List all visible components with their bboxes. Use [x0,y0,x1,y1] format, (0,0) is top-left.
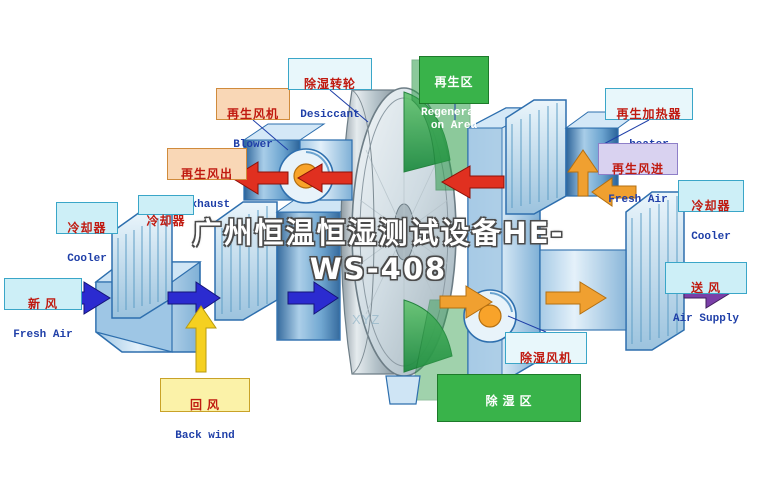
diagram-canvas: 广州恒温恒湿测试设备HE- WS-408 XYZ 再生风机 Blower 除湿转… [0,0,757,488]
label-regen-exhaust-cn: 再生风出 [168,168,246,181]
label-regeneration-area-en: Regenerati on Area [420,107,488,132]
label-cooler-left-en: Cooler [57,253,117,265]
label-regeneration-area: 再生区 Regenerati on Area [419,56,489,104]
label-regen-heater-cn: 再生加热器 [606,108,692,121]
label-dehumidification-district-en: Dehumification District [438,426,580,451]
label-air-supply: 送 风 Air Supply [665,262,747,294]
label-regen-heater: 再生加热器 heater [605,88,693,120]
label-regen-fresh-air-en: Fresh Air [599,194,677,206]
label-desiccant: 除湿转轮 Desiccant [288,58,372,90]
label-fresh-air: 新 风 Fresh Air [4,278,82,310]
label-air-supply-cn: 送 风 [666,282,746,295]
label-cooler-right: 冷却器 Cooler [678,180,744,212]
label-cooler-mid: 冷却器 [138,195,194,215]
label-back-wind-en: Back wind [161,430,249,442]
label-regen-blower-cn: 再生风机 [217,108,289,121]
label-regeneration-area-cn: 再生区 [420,76,488,89]
label-regen-fresh-air-cn: 再生风进 [599,163,677,176]
label-desiccant-en: Desiccant [289,109,371,121]
label-cooler-right-cn: 冷却器 [679,200,743,213]
label-dehum-blower-cn: 除湿风机 [506,352,586,365]
label-dehum-blower: 除湿风机 Blower [505,332,587,364]
label-dehumidification-district-cn: 除 湿 区 [438,395,580,408]
label-fresh-air-cn: 新 风 [5,298,81,311]
label-desiccant-cn: 除湿转轮 [289,78,371,91]
label-regen-exhaust: 再生风出 Exhaust [167,148,247,180]
label-cooler-left-cn: 冷却器 [57,222,117,235]
label-dehumidification-district: 除 湿 区 Dehumification District [437,374,581,422]
label-cooler-right-en: Cooler [679,231,743,243]
label-regen-blower: 再生风机 Blower [216,88,290,120]
label-fresh-air-en: Fresh Air [5,329,81,341]
label-back-wind: 回 风 Back wind [160,378,250,412]
label-cooler-mid-cn: 冷却器 [139,215,193,228]
label-air-supply-en: Air Supply [666,313,746,325]
label-back-wind-cn: 回 风 [161,399,249,412]
label-regen-fresh-air: 再生风进 Fresh Air [598,143,678,175]
label-cooler-left: 冷却器 Cooler [56,202,118,234]
